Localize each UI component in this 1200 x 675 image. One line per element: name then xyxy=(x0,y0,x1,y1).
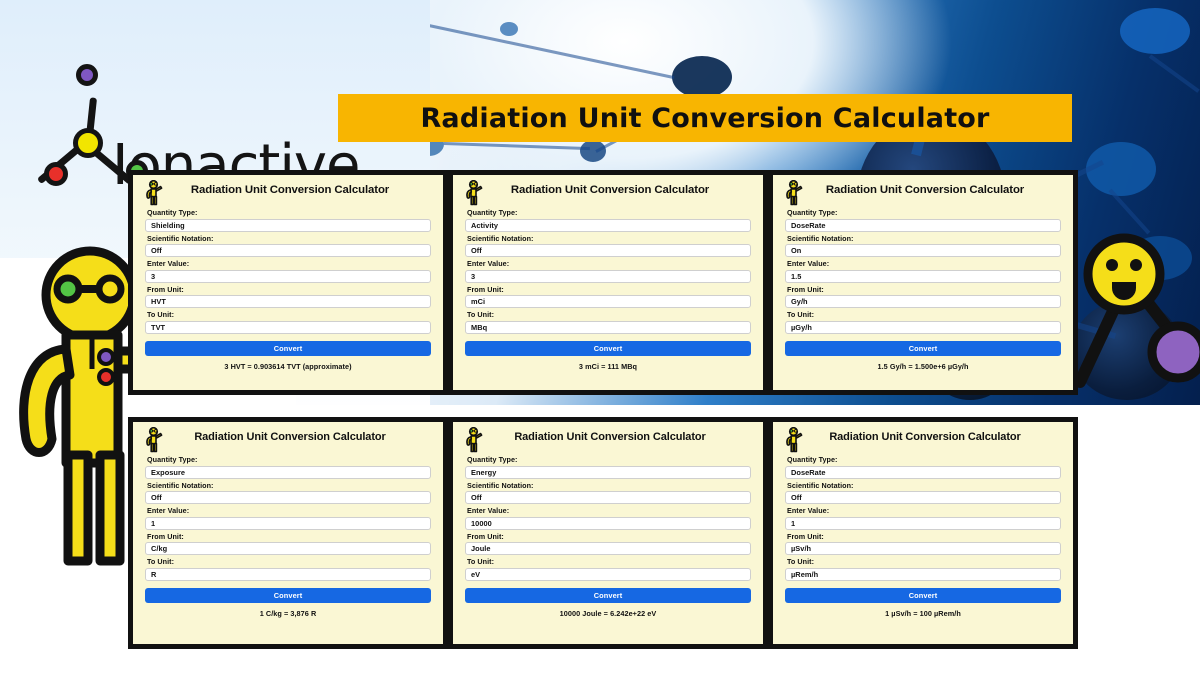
conversion-result: 1.5 Gy/h = 1.500e+6 µGy/h xyxy=(785,362,1061,371)
card-title: Radiation Unit Conversion Calculator xyxy=(487,184,751,196)
to-unit-label: To Unit: xyxy=(787,310,1061,319)
card-title: Radiation Unit Conversion Calculator xyxy=(487,431,751,443)
conversion-result: 10000 Joule = 6.242e+22 eV xyxy=(465,609,751,618)
to-unit-label: To Unit: xyxy=(147,310,431,319)
card-mascot-icon xyxy=(785,427,807,458)
scientific-notation-label: Scientific Notation: xyxy=(147,234,431,243)
quantity-type-select[interactable]: DoseRate xyxy=(785,219,1061,232)
quantity-type-select[interactable]: Energy xyxy=(465,466,751,479)
to-unit-label: To Unit: xyxy=(147,557,431,566)
scientific-notation-select[interactable]: Off xyxy=(785,491,1061,504)
from-unit-label: From Unit: xyxy=(467,285,751,294)
convert-button[interactable]: Convert xyxy=(785,341,1061,356)
quantity-type-select[interactable]: Activity xyxy=(465,219,751,232)
card-doserate-sv: Radiation Unit Conversion Calculator Qua… xyxy=(768,417,1078,649)
card-title: Radiation Unit Conversion Calculator xyxy=(807,184,1061,196)
card-header: Radiation Unit Conversion Calculator xyxy=(145,184,431,204)
card-header: Radiation Unit Conversion Calculator xyxy=(465,184,751,204)
from-unit-label: From Unit: xyxy=(147,532,431,541)
logo-node-red-icon xyxy=(44,162,68,186)
scientific-notation-select[interactable]: Off xyxy=(465,244,751,257)
scientific-notation-label: Scientific Notation: xyxy=(467,481,751,490)
card-title: Radiation Unit Conversion Calculator xyxy=(167,184,431,196)
quantity-type-select[interactable]: Shielding xyxy=(145,219,431,232)
to-unit-label: To Unit: xyxy=(787,557,1061,566)
from-unit-select[interactable]: Gy/h xyxy=(785,295,1061,308)
card-exposure: Radiation Unit Conversion Calculator Qua… xyxy=(128,417,448,649)
scientific-notation-label: Scientific Notation: xyxy=(787,481,1061,490)
conversion-result: 3 HVT = 0.903614 TVT (approximate) xyxy=(145,362,431,371)
card-header: Radiation Unit Conversion Calculator xyxy=(465,431,751,451)
conversion-result: 1 C/kg = 3,876 R xyxy=(145,609,431,618)
enter-value-label: Enter Value: xyxy=(147,506,431,515)
page-title: Radiation Unit Conversion Calculator xyxy=(420,103,989,134)
scientific-notation-label: Scientific Notation: xyxy=(787,234,1061,243)
card-mascot-icon xyxy=(465,180,487,211)
convert-button[interactable]: Convert xyxy=(145,588,431,603)
from-unit-select[interactable]: µSv/h xyxy=(785,542,1061,555)
to-unit-label: To Unit: xyxy=(467,310,751,319)
card-doserate-gy: Radiation Unit Conversion Calculator Qua… xyxy=(768,170,1078,395)
card-mascot-icon xyxy=(145,180,165,206)
card-mascot-icon xyxy=(465,180,485,206)
to-unit-select[interactable]: µRem/h xyxy=(785,568,1061,581)
conversion-result: 3 mCi = 111 MBq xyxy=(465,362,751,371)
convert-button[interactable]: Convert xyxy=(785,588,1061,603)
to-unit-select[interactable]: R xyxy=(145,568,431,581)
quantity-type-select[interactable]: Exposure xyxy=(145,466,431,479)
to-unit-select[interactable]: MBq xyxy=(465,321,751,334)
enter-value-label: Enter Value: xyxy=(467,259,751,268)
scientific-notation-select[interactable]: Off xyxy=(145,244,431,257)
logo-node-yellow-icon xyxy=(73,128,103,158)
page-title-banner: Radiation Unit Conversion Calculator xyxy=(338,94,1072,142)
card-title: Radiation Unit Conversion Calculator xyxy=(807,431,1061,443)
to-unit-select[interactable]: TVT xyxy=(145,321,431,334)
enter-value-input[interactable]: 10000 xyxy=(465,517,751,530)
card-mascot-icon xyxy=(465,427,487,458)
from-unit-select[interactable]: HVT xyxy=(145,295,431,308)
card-mascot-icon xyxy=(465,427,485,453)
card-mascot-icon xyxy=(145,180,167,211)
convert-button[interactable]: Convert xyxy=(145,341,431,356)
scientific-notation-select[interactable]: On xyxy=(785,244,1061,257)
scientific-notation-select[interactable]: Off xyxy=(465,491,751,504)
card-mascot-icon xyxy=(785,427,805,453)
card-shielding: Radiation Unit Conversion Calculator Qua… xyxy=(128,170,448,395)
convert-button[interactable]: Convert xyxy=(465,341,751,356)
calculator-card-grid: Radiation Unit Conversion Calculator Qua… xyxy=(128,170,1078,655)
to-unit-label: To Unit: xyxy=(467,557,751,566)
quantity-type-label: Quantity Type: xyxy=(147,208,431,217)
convert-button[interactable]: Convert xyxy=(465,588,751,603)
card-mascot-icon xyxy=(785,180,805,206)
enter-value-label: Enter Value: xyxy=(467,506,751,515)
enter-value-input[interactable]: 1 xyxy=(785,517,1061,530)
quantity-type-label: Quantity Type: xyxy=(467,455,751,464)
from-unit-select[interactable]: Joule xyxy=(465,542,751,555)
card-mascot-icon xyxy=(785,180,807,211)
from-unit-select[interactable]: mCi xyxy=(465,295,751,308)
enter-value-input[interactable]: 1.5 xyxy=(785,270,1061,283)
quantity-type-label: Quantity Type: xyxy=(467,208,751,217)
smiley-atom-figure xyxy=(1076,232,1200,422)
scientific-notation-select[interactable]: Off xyxy=(145,491,431,504)
to-unit-select[interactable]: µGy/h xyxy=(785,321,1061,334)
quantity-type-label: Quantity Type: xyxy=(787,208,1061,217)
scientific-notation-label: Scientific Notation: xyxy=(147,481,431,490)
enter-value-input[interactable]: 3 xyxy=(465,270,751,283)
logo-node-purple-icon xyxy=(76,64,98,86)
from-unit-label: From Unit: xyxy=(787,285,1061,294)
card-activity: Radiation Unit Conversion Calculator Qua… xyxy=(448,170,768,395)
quantity-type-label: Quantity Type: xyxy=(147,455,431,464)
from-unit-select[interactable]: C/kg xyxy=(145,542,431,555)
enter-value-input[interactable]: 1 xyxy=(145,517,431,530)
card-mascot-icon xyxy=(145,427,165,453)
quantity-type-select[interactable]: DoseRate xyxy=(785,466,1061,479)
enter-value-input[interactable]: 3 xyxy=(145,270,431,283)
card-energy: Radiation Unit Conversion Calculator Qua… xyxy=(448,417,768,649)
logo-bond-top xyxy=(87,97,98,132)
card-header: Radiation Unit Conversion Calculator xyxy=(145,431,431,451)
enter-value-label: Enter Value: xyxy=(147,259,431,268)
from-unit-label: From Unit: xyxy=(467,532,751,541)
card-header: Radiation Unit Conversion Calculator xyxy=(785,184,1061,204)
from-unit-label: From Unit: xyxy=(147,285,431,294)
page-root: Ionactive xyxy=(0,0,1200,675)
conversion-result: 1 µSv/h = 100 µRem/h xyxy=(785,609,1061,618)
card-mascot-icon xyxy=(145,427,167,458)
enter-value-label: Enter Value: xyxy=(787,506,1061,515)
scientific-notation-label: Scientific Notation: xyxy=(467,234,751,243)
enter-value-label: Enter Value: xyxy=(787,259,1061,268)
from-unit-label: From Unit: xyxy=(787,532,1061,541)
quantity-type-label: Quantity Type: xyxy=(787,455,1061,464)
card-title: Radiation Unit Conversion Calculator xyxy=(167,431,431,443)
card-header: Radiation Unit Conversion Calculator xyxy=(785,431,1061,451)
to-unit-select[interactable]: eV xyxy=(465,568,751,581)
